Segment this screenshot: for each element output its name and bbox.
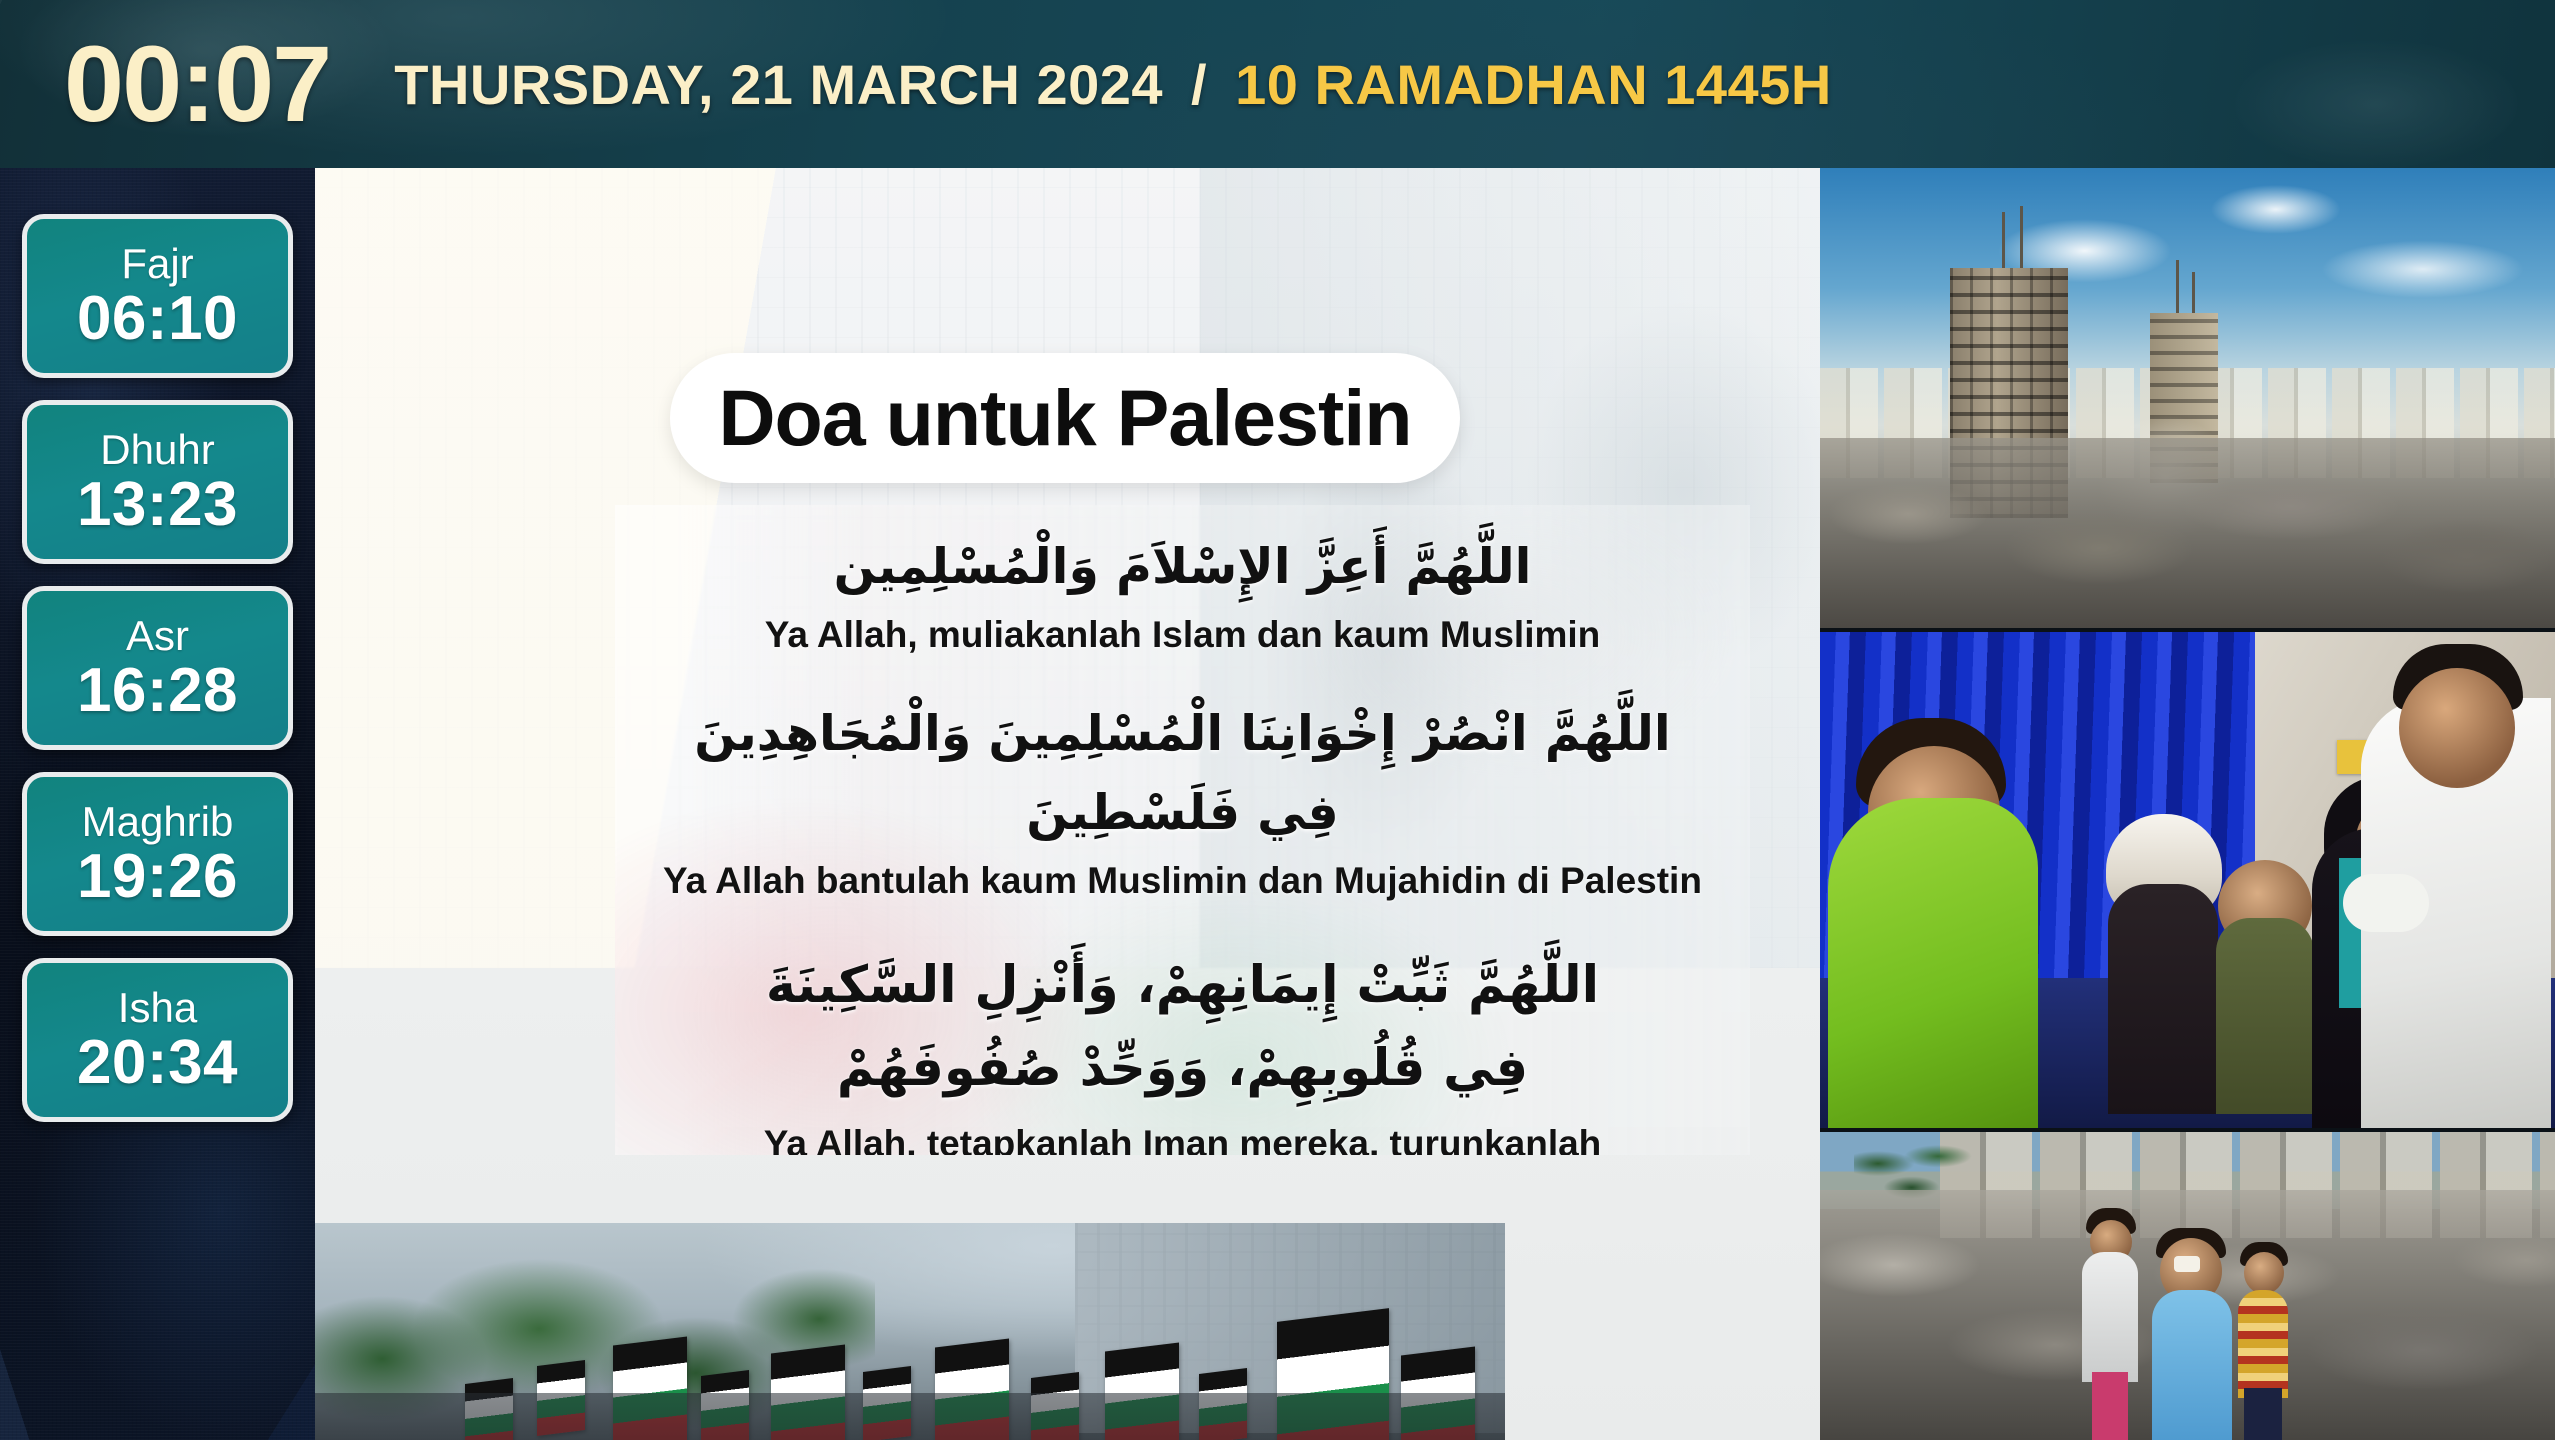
photo-divider	[1820, 1128, 2555, 1132]
doa-translation-2: Ya Allah bantulah kaum Muslimin dan Muja…	[645, 858, 1720, 903]
child-in-striped-tanktop	[2238, 1290, 2288, 1398]
page-title: Doa untuk Palestin	[718, 372, 1411, 464]
medical-glove	[2343, 874, 2429, 932]
prayer-name: Asr	[126, 614, 189, 658]
prayer-times-display-screen: 00:07 THURSDAY, 21 MARCH 2024 / 10 RAMAD…	[0, 0, 2555, 1440]
prayer-card-maghrib[interactable]: Maghrib 19:26	[22, 772, 293, 936]
prayer-time: 06:10	[77, 288, 238, 350]
prayer-time: 19:26	[77, 846, 238, 908]
prayer-card-fajr[interactable]: Fajr 06:10	[22, 214, 293, 378]
photo-injured-children-hospital	[1820, 628, 2555, 1128]
gregorian-date: THURSDAY, 21 MARCH 2024	[394, 52, 1163, 117]
prayer-card-isha[interactable]: Isha 20:34	[22, 958, 293, 1122]
child-with-head-bandage	[2108, 884, 2218, 1114]
antenna-icon	[2192, 272, 2195, 316]
child-legs	[2092, 1372, 2128, 1440]
date-bar: THURSDAY, 21 MARCH 2024 / 10 RAMADHAN 14…	[394, 52, 1832, 117]
news-photo-column	[1820, 168, 2555, 1440]
prayer-name: Maghrib	[82, 800, 234, 844]
doa-translation-1: Ya Allah, muliakanlah Islam dan kaum Mus…	[645, 612, 1720, 657]
prayer-time: 20:34	[77, 1032, 238, 1094]
prayer-card-list: Fajr 06:10 Dhuhr 13:23 Asr 16:28 Maghrib…	[0, 168, 315, 1122]
doa-arabic-2: اللَّهُمَّ انْصُرْ إِخْوَانِنَا الْمُسْل…	[645, 694, 1720, 853]
clock-time: 00:07	[64, 30, 330, 138]
antenna-icon	[2002, 212, 2005, 272]
rally-photo	[315, 1223, 1505, 1440]
child-in-green-shirt	[1828, 798, 2038, 1128]
prayer-card-dhuhr[interactable]: Dhuhr 13:23	[22, 400, 293, 564]
photo-divider	[1820, 628, 2555, 632]
hijri-date: 10 RAMADHAN 1445H	[1235, 52, 1832, 117]
antenna-icon	[2020, 206, 2023, 272]
child-legs	[2244, 1388, 2282, 1440]
prayer-time: 13:23	[77, 474, 238, 536]
date-separator: /	[1185, 52, 1213, 117]
forehead-bandage	[2174, 1256, 2200, 1272]
prayer-times-sidebar: Fajr 06:10 Dhuhr 13:23 Asr 16:28 Maghrib…	[0, 168, 315, 1440]
medic-head	[2399, 668, 2515, 788]
child-in-olive-shirt	[2216, 918, 2314, 1114]
antenna-icon	[2176, 260, 2179, 316]
doa-arabic-3-line1: اللَّهُمَّ ثَبِّتْ إِيمَانِهِمْ، وَأَنْز…	[645, 945, 1720, 1028]
child-in-white-shirt	[2082, 1252, 2138, 1382]
child-in-blue-tanktop	[2152, 1290, 2232, 1440]
doa-text-panel: اللَّهُمَّ أَعِزَّ الإِسْلاَمَ وَالْمُسْ…	[615, 505, 1750, 1155]
doa-group-3: اللَّهُمَّ ثَبِّتْ إِيمَانِهِمْ، وَأَنْز…	[645, 945, 1720, 1155]
rubble-field	[1820, 438, 2555, 628]
content-area: Fajr 06:10 Dhuhr 13:23 Asr 16:28 Maghrib…	[0, 168, 2555, 1440]
header-bar: 00:07 THURSDAY, 21 MARCH 2024 / 10 RAMAD…	[0, 0, 2555, 168]
doa-title-pill: Doa untuk Palestin	[670, 353, 1460, 483]
doa-arabic-1: اللَّهُمَّ أَعِزَّ الإِسْلاَمَ وَالْمُسْ…	[645, 527, 1720, 606]
prayer-name: Isha	[118, 986, 197, 1030]
prayer-card-asr[interactable]: Asr 16:28	[22, 586, 293, 750]
child-head	[2244, 1252, 2284, 1294]
prayer-name: Dhuhr	[100, 428, 214, 472]
doa-group-2: اللَّهُمَّ انْصُرْ إِخْوَانِنَا الْمُسْل…	[645, 694, 1720, 904]
doa-arabic-3-line2: فِي قُلُوبِهِمْ، وَوَحِّدْ صُفُوفَهُمْ	[645, 1028, 1720, 1111]
photo-children-in-rubble	[1820, 1128, 2555, 1440]
prayer-name: Fajr	[121, 242, 193, 286]
prayer-time: 16:28	[77, 660, 238, 722]
photo-destroyed-city	[1820, 168, 2555, 628]
rally-crowd	[315, 1393, 1505, 1440]
doa-translation-3-line1: Ya Allah, tetapkanlah Iman mereka, turun…	[645, 1121, 1720, 1155]
doa-group-1: اللَّهُمَّ أَعِزَّ الإِسْلاَمَ وَالْمُسْ…	[645, 527, 1720, 658]
